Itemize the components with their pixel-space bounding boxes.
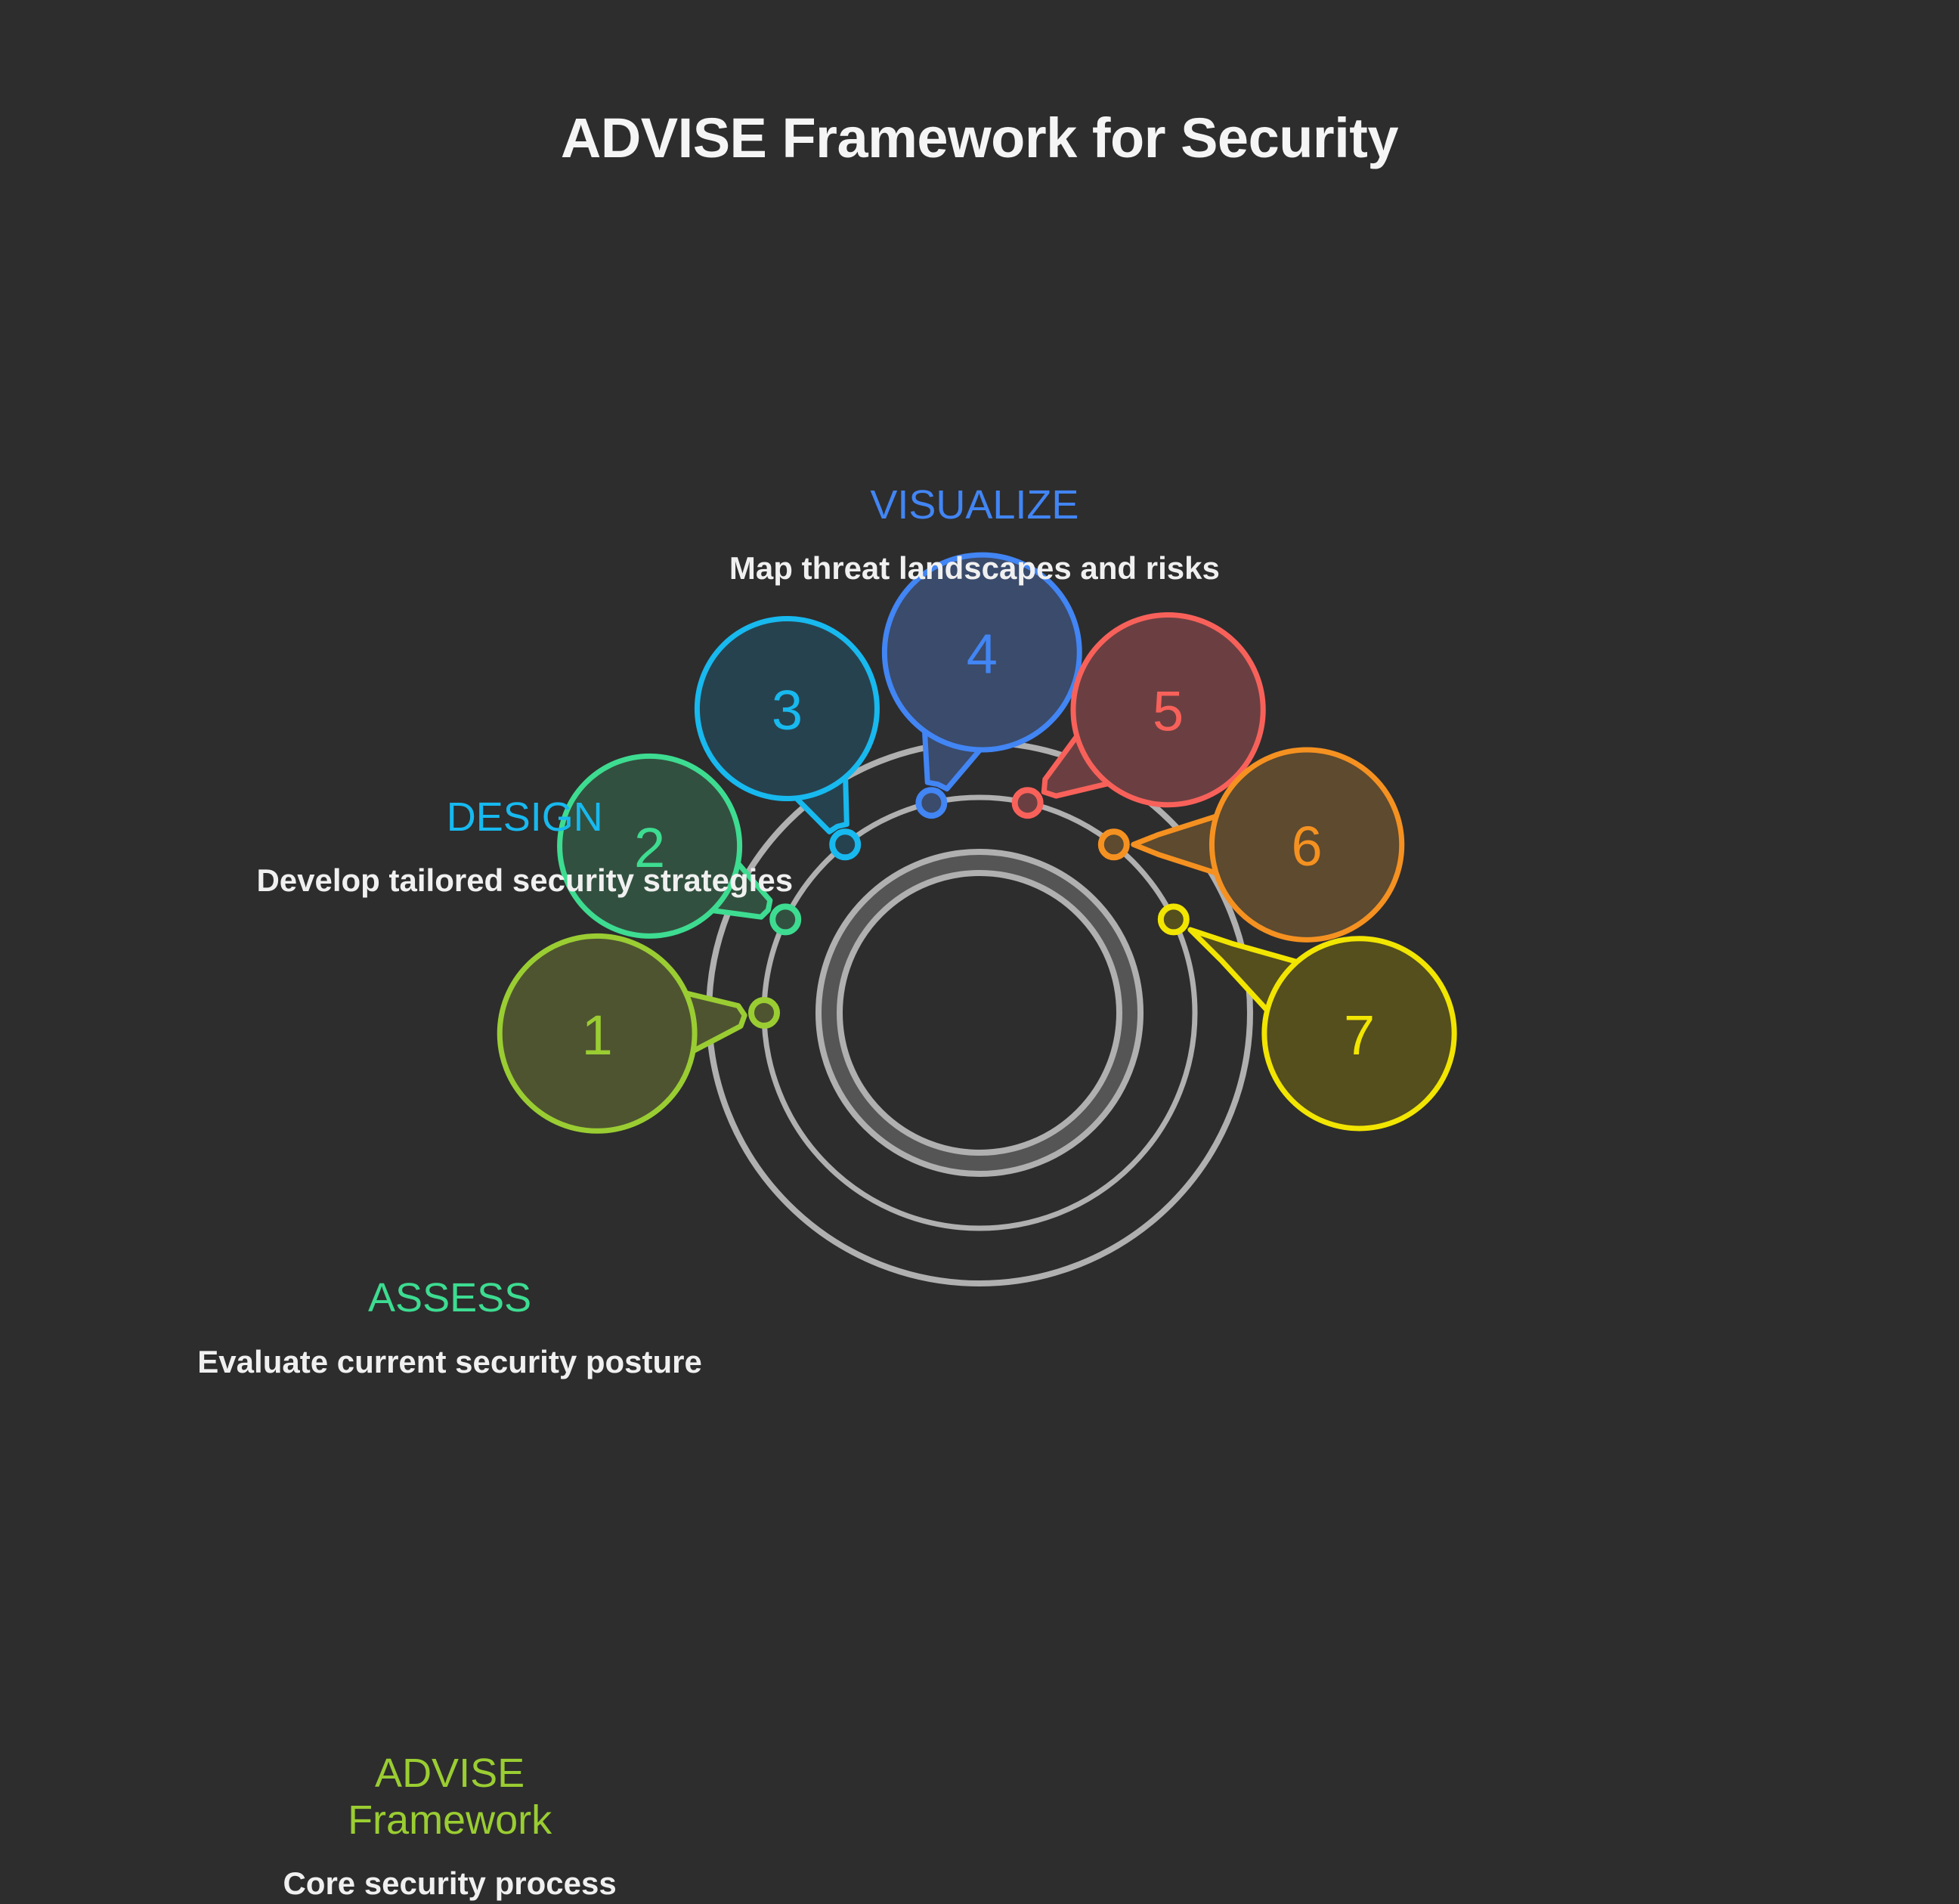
- step-dot-4[interactable]: [918, 790, 944, 816]
- inner-band-fill: [829, 862, 1130, 1163]
- step-number-5: 5: [1153, 680, 1184, 743]
- callout-heading: DESIGN: [150, 794, 899, 841]
- step-dot-1[interactable]: [751, 1000, 777, 1026]
- step-number-4: 4: [967, 623, 998, 686]
- step-number-1: 1: [582, 1004, 613, 1067]
- callout-heading: ADVISE Framework: [75, 1750, 825, 1844]
- advise-framework-diagram: 1234567: [0, 0, 1959, 1442]
- step-group-1: 1: [500, 936, 777, 1131]
- step-dot-5[interactable]: [1015, 790, 1041, 816]
- step-number-3: 3: [772, 679, 803, 741]
- step-number-6: 6: [1292, 815, 1323, 878]
- callout-description: Map threat landscapes and risks: [599, 548, 1349, 589]
- callout-heading: ASSESS: [75, 1274, 825, 1321]
- callout-visualize: VISUALIZEMap threat landscapes and risks: [599, 481, 1349, 589]
- step-number-7: 7: [1344, 1004, 1375, 1067]
- callout-heading: VISUALIZE: [599, 481, 1349, 528]
- callout-description: Evaluate current security posture: [75, 1342, 825, 1382]
- callout-assess: ASSESSEvaluate current security posture: [75, 1274, 825, 1382]
- step-dot-6[interactable]: [1101, 831, 1127, 857]
- callout-design: DESIGNDevelop tailored security strategi…: [150, 794, 899, 901]
- inner-band-inner: [840, 873, 1119, 1153]
- callout-advise: ADVISE FrameworkCore security process: [75, 1750, 825, 1904]
- callout-description: Develop tailored security strategies: [150, 860, 899, 901]
- step-dot-7[interactable]: [1161, 906, 1187, 932]
- step-dot-2[interactable]: [772, 906, 798, 932]
- callout-description: Core security process: [75, 1863, 825, 1904]
